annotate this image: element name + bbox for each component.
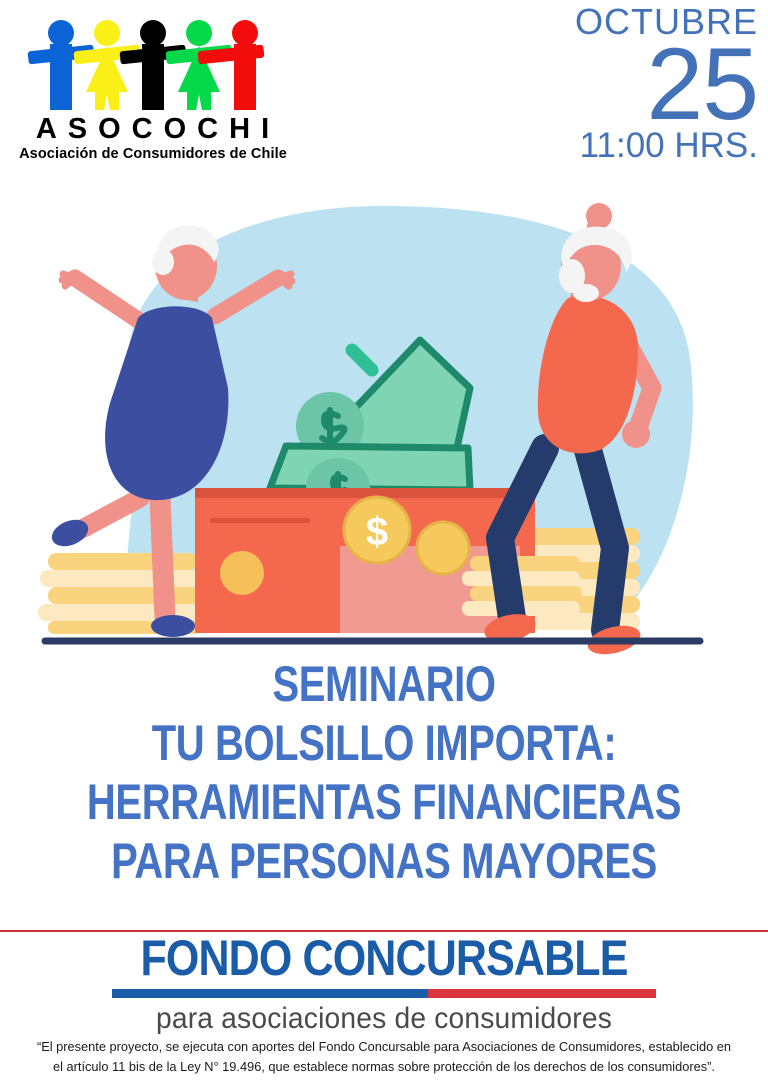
asocochi-logo: ASOCOCHI Asociación de Consumidores de C… [8,18,298,162]
logo-figure-5 [222,18,268,110]
title-line-3: HERRAMIENTAS FINANCIERAS [77,773,691,832]
title-line-4: PARA PERSONAS MAYORES [77,832,691,891]
svg-text:$: $ [366,510,388,554]
logo-tagline: Asociación de Consumidores de Chile [8,146,298,162]
logo-people-icon [38,18,268,110]
disclaimer-line-1: “El presente proyecto, se ejecuta con ap… [17,1037,750,1057]
fondo-concursable-block: FONDO CONCURSABLE para asociaciones de c… [0,932,768,1035]
event-day: 25 [508,38,758,132]
seminar-title: SEMINARIO TU BOLSILLO IMPORTA: HERRAMIEN… [0,655,768,891]
fondo-title: FONDO CONCURSABLE [54,932,714,985]
logo-figure-4 [176,18,222,110]
disclaimer-line-2: el artículo 11 bis de la Ley N° 19.496, … [17,1057,750,1077]
title-line-1: SEMINARIO [77,655,691,714]
poster-header: ASOCOCHI Asociación de Consumidores de C… [0,0,768,198]
hero-illustration: $ [0,198,768,660]
event-time: 11:00 HRS. [508,128,758,163]
fondo-subtitle: para asociaciones de consumidores [23,1002,745,1036]
legal-disclaimer: “El presente proyecto, se ejecuta con ap… [17,1037,750,1078]
logo-wordmark: ASOCOCHI [18,114,298,144]
chile-flag-bar [112,989,657,998]
flag-bar-blue-segment [112,989,428,998]
event-date-block: OCTUBRE 25 11:00 HRS. [508,4,758,163]
title-line-2: TU BOLSILLO IMPORTA: [77,714,691,773]
poster-canvas: ASOCOCHI Asociación de Consumidores de C… [0,0,768,1084]
flag-bar-red-segment [428,989,657,998]
